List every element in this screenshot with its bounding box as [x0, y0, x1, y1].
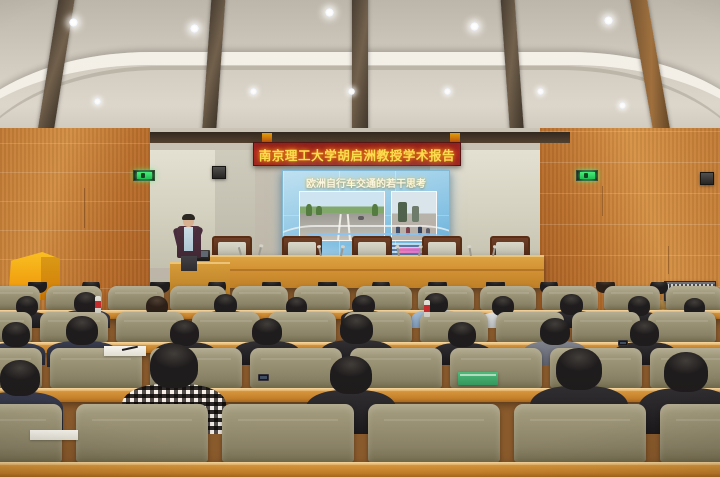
roadside-tree: [306, 204, 312, 216]
audience-member-head: [556, 348, 602, 390]
presenter-hair: [182, 214, 195, 220]
roadside-tree: [372, 204, 378, 216]
ceiling-spotlight: [190, 24, 199, 33]
smartphone: [258, 374, 269, 381]
smartphone: [618, 340, 628, 346]
audience-member-head: [340, 314, 373, 344]
audience-member-head: [448, 322, 476, 347]
ceiling-spotlight: [94, 98, 101, 105]
event-banner-text: 南京理工大学胡启洲教授学术报告: [259, 145, 456, 164]
audience-member-head: [540, 318, 570, 345]
wall-speaker: [700, 172, 714, 185]
auditorium-seat: [76, 404, 208, 462]
audience-desk: [0, 462, 720, 477]
audience-member-head: [630, 320, 659, 346]
audience-member-head: [2, 322, 30, 347]
audience-member-head: [252, 318, 282, 345]
notebook-paper: [30, 430, 78, 440]
auditorium-seat: [192, 312, 260, 342]
ceiling-spotlight: [250, 88, 257, 95]
running-man-icon: [580, 172, 595, 179]
water-bottle: [424, 300, 430, 317]
lecture-hall-photo: 南京理工大学胡启洲教授学术报告 欧洲自行车交通的若干思考: [0, 0, 720, 477]
auditorium-seat: [250, 348, 342, 388]
audience-member-head: [664, 352, 708, 392]
running-man-icon: [137, 172, 152, 179]
audience-member-head: [0, 360, 40, 396]
roadside-tree: [316, 206, 322, 215]
presenter-shirt: [184, 227, 193, 251]
ceiling-spotlight: [619, 102, 626, 109]
exit-sign: [133, 170, 155, 181]
auditorium-seat: [222, 404, 354, 462]
ceiling-spotlight: [444, 88, 451, 95]
event-banner: 南京理工大学胡启洲教授学术报告: [253, 142, 461, 166]
water-bottle: [95, 296, 101, 313]
presenter-trousers: [181, 256, 197, 271]
auditorium-seat: [232, 286, 288, 310]
exit-sign: [576, 170, 598, 181]
panel-seam: [602, 186, 603, 216]
ceiling-spotlight: [604, 16, 613, 25]
green-book: [458, 372, 498, 385]
ceiling-spotlight: [348, 88, 355, 95]
ceiling-spotlight: [537, 88, 544, 95]
audience-member-head: [66, 316, 98, 345]
ceiling-spotlight: [69, 18, 78, 27]
slide-title: 欧洲自行车交通的若干思考: [283, 175, 449, 190]
auditorium-seat: [660, 404, 720, 462]
auditorium-seat: [368, 404, 500, 462]
auditorium-seat: [514, 404, 646, 462]
seat-back-row: [0, 404, 720, 462]
audience-member-head: [170, 320, 199, 346]
ceiling-spotlight: [470, 22, 479, 31]
audience-member-head: [330, 356, 372, 394]
panel-seam: [84, 188, 85, 228]
wall-speaker: [212, 166, 226, 179]
panel-seam: [668, 246, 669, 274]
audience-area: [0, 282, 720, 477]
audience-member-head: [150, 344, 198, 388]
presenter: [176, 215, 202, 271]
ceiling-spotlight: [325, 8, 334, 17]
